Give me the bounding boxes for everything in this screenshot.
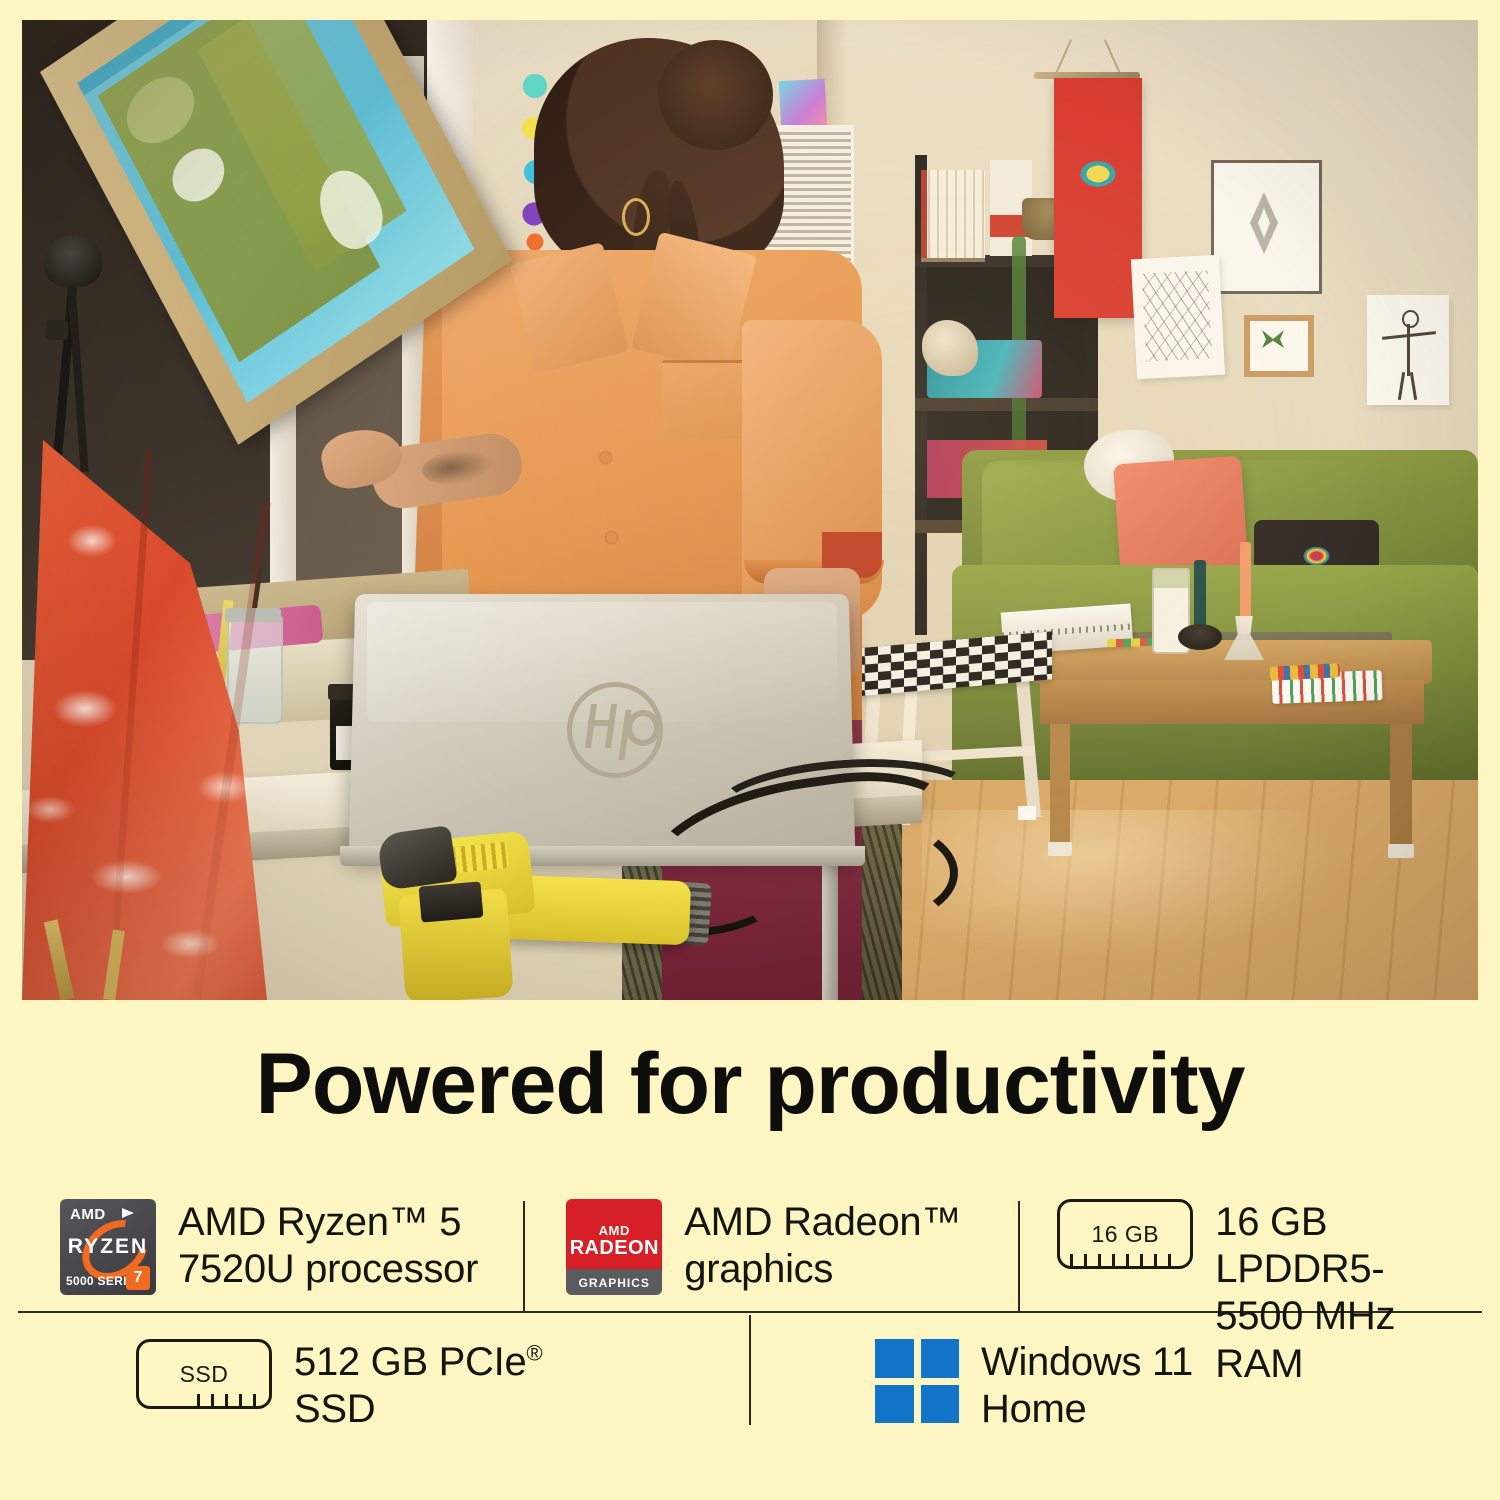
specs-row-top: AMD RYZEN 5000 SERIES 7 AMD Ryzen™ 5 752… (18, 1185, 1482, 1313)
windows-logo-icon (875, 1339, 959, 1423)
windows-square-4 (921, 1385, 960, 1424)
ssd-chip-icon: SSD (136, 1339, 272, 1409)
spec-storage: SSD 512 GB PCIe® SSD (18, 1315, 743, 1455)
spec-processor: AMD RYZEN 5000 SERIES 7 AMD Ryzen™ 5 752… (18, 1185, 526, 1313)
ssd-chip-contacts (197, 1394, 259, 1408)
amd-radeon-badge-icon: AMD RADEON GRAPHICS (566, 1199, 662, 1295)
amd-arrow-icon (122, 1208, 134, 1218)
spec-operating-system-label: Windows 11 Home (981, 1339, 1193, 1433)
registered-mark: ® (526, 1341, 542, 1366)
page-title: Powered for productivity (0, 1038, 1500, 1131)
hero-product-photo (22, 20, 1478, 1000)
ryzen-badge-line: RYZEN (60, 1235, 156, 1259)
radeon-badge-sub: GRAPHICS (566, 1276, 662, 1290)
spec-processor-label: AMD Ryzen™ 5 7520U processor (178, 1199, 478, 1293)
ryzen-badge-brand: AMD (70, 1206, 106, 1223)
specs-grid: AMD RYZEN 5000 SERIES 7 AMD Ryzen™ 5 752… (0, 1185, 1500, 1485)
windows-square-2 (921, 1339, 960, 1378)
ssd-chip-label: SSD (180, 1361, 229, 1388)
spec-operating-system: Windows 11 Home (743, 1315, 1482, 1455)
memory-chip-icon: 16 GB (1057, 1199, 1193, 1269)
spec-storage-label: 512 GB PCIe® SSD (294, 1339, 542, 1433)
memory-chip-label: 16 GB (1091, 1221, 1159, 1248)
spec-storage-label-rest: SSD (294, 1387, 375, 1431)
ryzen-badge-tier: 7 (126, 1266, 150, 1290)
spec-graphics: AMD RADEON GRAPHICS AMD Radeon™ graphics (526, 1185, 1023, 1313)
photo-vignette (22, 20, 1478, 1000)
spec-graphics-label: AMD Radeon™ graphics (684, 1199, 961, 1293)
specs-row-bottom: SSD 512 GB PCIe® SSD Windows 11 Home (18, 1315, 1482, 1455)
radeon-badge-brand: AMD (566, 1223, 662, 1238)
spec-memory: 16 GB 16 GB LPDDR5- 5500 MHz RAM (1023, 1185, 1482, 1313)
windows-square-1 (875, 1339, 914, 1378)
radeon-badge-line: RADEON (566, 1237, 662, 1260)
amd-ryzen-badge-icon: AMD RYZEN 5000 SERIES 7 (60, 1199, 156, 1295)
spec-storage-label-main: 512 GB PCIe (294, 1340, 526, 1384)
memory-chip-contacts (1070, 1254, 1180, 1268)
windows-square-3 (875, 1385, 914, 1424)
